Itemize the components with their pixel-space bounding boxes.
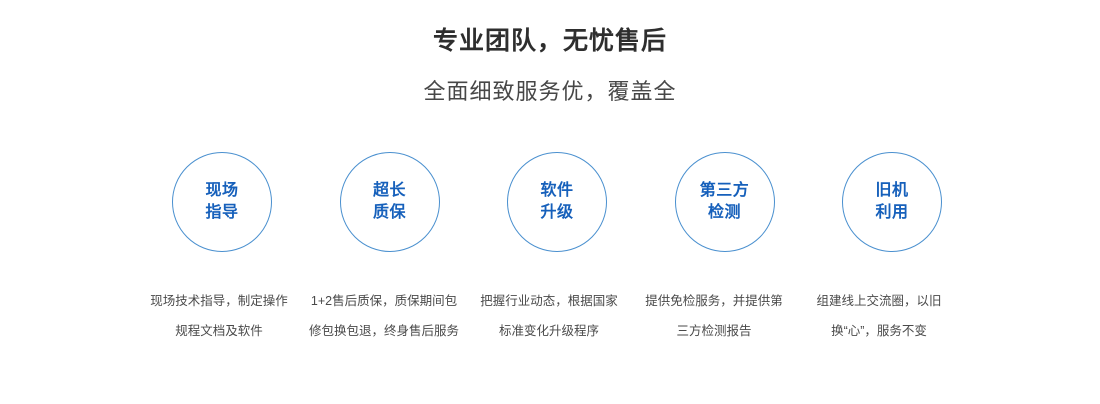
feature-badge-cell-5: 旧机 利用	[842, 152, 944, 254]
feature-caption-line1: 1+2售后质保，质保期间包	[305, 286, 463, 316]
feature-badge-label-line2: 升级	[540, 202, 573, 224]
feature-badge-label-line1: 旧机	[875, 180, 908, 202]
feature-caption-line1: 现场技术指导，制定操作	[140, 286, 298, 316]
feature-badge-label-line2: 指导	[205, 202, 238, 224]
feature-caption-3: 把握行业动态，根据国家 标准变化升级程序	[470, 286, 628, 346]
feature-badge-circle-4[interactable]: 第三方 检测	[675, 152, 775, 252]
feature-caption-line2: 规程文档及软件	[140, 316, 298, 346]
feature-badge-row: 现场 指导 超长 质保 软件 升级 第三方 检测 旧机	[172, 152, 944, 254]
feature-badge-label-line1: 软件	[540, 180, 573, 202]
feature-caption-line1: 把握行业动态，根据国家	[470, 286, 628, 316]
feature-caption-1: 现场技术指导，制定操作 规程文档及软件	[140, 286, 298, 346]
feature-badge-cell-2: 超长 质保	[340, 152, 442, 254]
feature-badge-circle-2[interactable]: 超长 质保	[340, 152, 440, 252]
feature-badge-label-line2: 质保	[373, 202, 406, 224]
feature-badge-cell-1: 现场 指导	[172, 152, 274, 254]
feature-caption-5: 组建线上交流圈，以旧 换“心”，服务不变	[800, 286, 958, 346]
feature-badge-label-line1: 超长	[373, 180, 406, 202]
feature-caption-row: 现场技术指导，制定操作 规程文档及软件 1+2售后质保，质保期间包 修包换包退，…	[140, 286, 958, 346]
feature-badge-circle-3[interactable]: 软件 升级	[507, 152, 607, 252]
feature-caption-line2: 换“心”，服务不变	[800, 316, 958, 346]
feature-caption-2: 1+2售后质保，质保期间包 修包换包退，终身售后服务	[305, 286, 463, 346]
heading-block: 专业团队，无忧售后 全面细致服务优，覆盖全	[0, 24, 1100, 107]
feature-badge-label-line1: 现场	[205, 180, 238, 202]
feature-badge-cell-4: 第三方 检测	[675, 152, 777, 254]
page-title: 专业团队，无忧售后	[0, 24, 1100, 58]
page-subtitle: 全面细致服务优，覆盖全	[0, 58, 1100, 107]
service-promo-section: 专业团队，无忧售后 全面细致服务优，覆盖全 现场 指导 超长 质保 软件 升级 …	[0, 0, 1100, 404]
feature-caption-line2: 修包换包退，终身售后服务	[305, 316, 463, 346]
feature-caption-line1: 提供免检服务，并提供第	[635, 286, 793, 316]
feature-caption-line1: 组建线上交流圈，以旧	[800, 286, 958, 316]
feature-caption-line2: 三方检测报告	[635, 316, 793, 346]
feature-badge-label-line2: 利用	[875, 202, 908, 224]
feature-badge-label-line1: 第三方	[700, 180, 750, 202]
feature-caption-line2: 标准变化升级程序	[470, 316, 628, 346]
feature-badge-circle-1[interactable]: 现场 指导	[172, 152, 272, 252]
feature-badge-circle-5[interactable]: 旧机 利用	[842, 152, 942, 252]
feature-badge-label-line2: 检测	[708, 202, 741, 224]
feature-badge-cell-3: 软件 升级	[507, 152, 609, 254]
feature-caption-4: 提供免检服务，并提供第 三方检测报告	[635, 286, 793, 346]
